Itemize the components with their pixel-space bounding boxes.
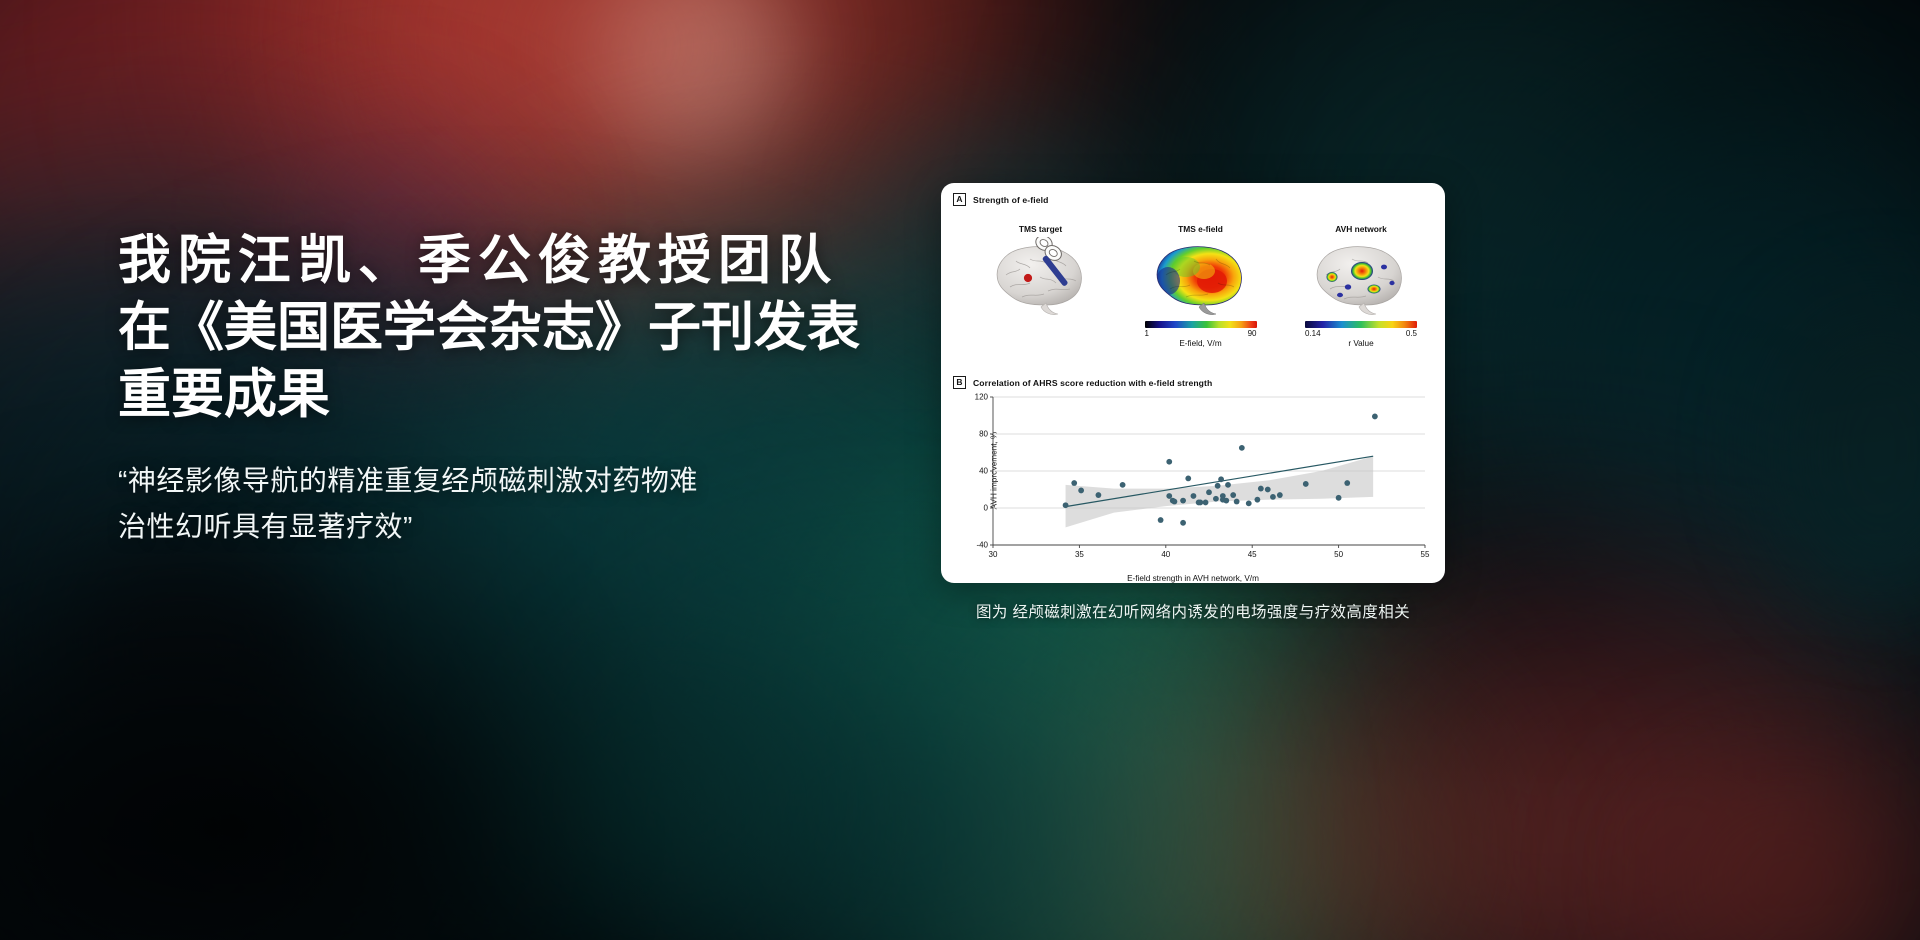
colorbar-max: 90 bbox=[1248, 329, 1257, 338]
panel-b: B Correlation of AHRS score reduction wi… bbox=[953, 376, 1433, 588]
efield-colorbar-caption: E-field, V/m bbox=[1128, 339, 1273, 348]
hero-text-block: 我院汪凯、季公俊教授团队 在《美国医学会杂志》子刊发表 重要成果 “神经影像导航… bbox=[118, 228, 908, 549]
page-title: 我院汪凯、季公俊教授团队 在《美国医学会杂志》子刊发表 重要成果 bbox=[118, 228, 908, 428]
rvalue-colorbar-ticks: 0.14 0.5 bbox=[1305, 329, 1417, 338]
panel-a-header: A Strength of e-field bbox=[953, 193, 1433, 206]
rvalue-colorbar-caption: r Value bbox=[1291, 339, 1431, 348]
svg-text:30: 30 bbox=[989, 550, 998, 559]
x-axis-label: E-field strength in AVH network, V/m bbox=[953, 574, 1433, 583]
headline-line-2: 在《美国医学会杂志》子刊发表 bbox=[118, 295, 908, 362]
svg-text:55: 55 bbox=[1421, 550, 1430, 559]
scatter-canvas: -4004080120303540455055 bbox=[953, 391, 1433, 569]
svg-text:80: 80 bbox=[979, 430, 988, 439]
efield-colorbar bbox=[1145, 321, 1257, 328]
colorbar-max: 0.5 bbox=[1406, 329, 1417, 338]
column-title: TMS e-field bbox=[1128, 224, 1273, 234]
panel-a-body: TMS target bbox=[953, 206, 1433, 374]
panel-a-title: Strength of e-field bbox=[973, 195, 1048, 205]
svg-text:-40: -40 bbox=[976, 541, 988, 550]
svg-text:45: 45 bbox=[1248, 550, 1257, 559]
svg-text:120: 120 bbox=[975, 393, 989, 402]
panel-a-column-avh-network: AVH network bbox=[1291, 224, 1431, 348]
brain-avh-network-icon bbox=[1306, 237, 1416, 317]
colorbar-min: 1 bbox=[1145, 329, 1149, 338]
scatter-plot: AVH improvement, % -40040801203035404550… bbox=[953, 391, 1433, 583]
figure-card: A Strength of e-field TMS target bbox=[941, 183, 1445, 583]
brain-efield-heatmap-icon bbox=[1146, 237, 1256, 317]
column-title: AVH network bbox=[1291, 224, 1431, 234]
svg-text:40: 40 bbox=[979, 467, 988, 476]
efield-colorbar-ticks: 1 90 bbox=[1145, 329, 1257, 338]
subheadline: “神经影像导航的精准重复经颅磁刺激对药物难 治性幻听具有显著疗效” bbox=[118, 458, 888, 549]
svg-text:40: 40 bbox=[1161, 550, 1170, 559]
subheadline-line-2: 治性幻听具有显著疗效” bbox=[118, 504, 888, 549]
figure-caption: 图为 经颅磁刺激在幻听网络内诱发的电场强度与疗效高度相关 bbox=[941, 600, 1445, 622]
headline-line-1: 我院汪凯、季公俊教授团队 bbox=[118, 228, 908, 295]
brain-with-tms-coil-icon bbox=[986, 237, 1096, 317]
svg-text:50: 50 bbox=[1334, 550, 1343, 559]
svg-text:35: 35 bbox=[1075, 550, 1084, 559]
subheadline-line-1: “神经影像导航的精准重复经颅磁刺激对药物难 bbox=[118, 458, 888, 503]
rvalue-colorbar bbox=[1305, 321, 1417, 328]
panel-a-column-tms-efield: TMS e-field bbox=[1128, 224, 1273, 348]
panel-a-letter: A bbox=[953, 193, 966, 206]
column-title: TMS target bbox=[973, 224, 1108, 234]
svg-text:0: 0 bbox=[984, 504, 989, 513]
panel-b-letter: B bbox=[953, 376, 966, 389]
panel-b-title: Correlation of AHRS score reduction with… bbox=[973, 378, 1212, 388]
panel-a-column-tms-target: TMS target bbox=[973, 224, 1108, 317]
headline-line-3: 重要成果 bbox=[118, 362, 908, 429]
colorbar-min: 0.14 bbox=[1305, 329, 1321, 338]
panel-b-header: B Correlation of AHRS score reduction wi… bbox=[953, 376, 1433, 389]
